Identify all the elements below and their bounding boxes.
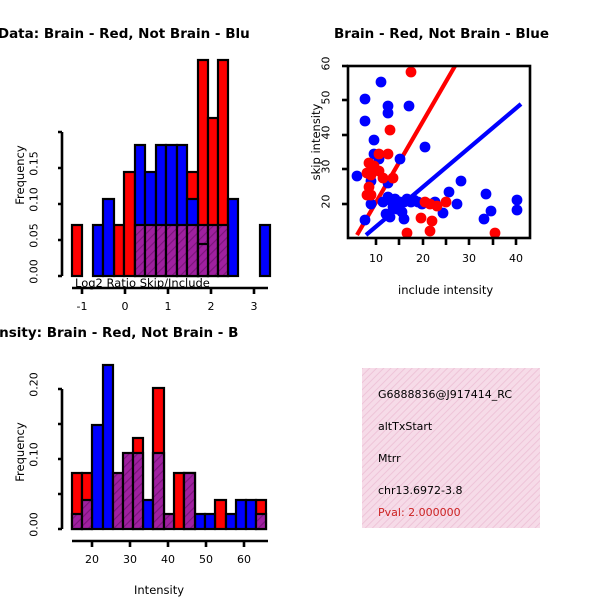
intensity-ytick-2: 0.20 bbox=[28, 365, 41, 405]
scatter-title: Brain - Red, Not Brain - Blue bbox=[334, 26, 549, 42]
ratio-ytick-2: 0.10 bbox=[28, 180, 41, 220]
scatter-xlabel: include intensity bbox=[398, 283, 493, 297]
ratio-xlabel: Log2 Ratio Skip/Include bbox=[75, 276, 210, 290]
gene-info-pval: Pval: 2.000000 bbox=[378, 506, 461, 519]
intensity-histogram-title: ne Itensity: Brain - Red, Not Brain - B bbox=[0, 325, 238, 341]
ratio-histogram-plot bbox=[0, 48, 300, 298]
scatter-content bbox=[352, 66, 523, 238]
gene-info-line-4: chr13.6972-3.8 bbox=[378, 484, 463, 497]
intensity-ytick-1: 0.10 bbox=[28, 435, 41, 475]
ratio-ytick-0: 0.00 bbox=[28, 252, 41, 292]
scatter-panel: Brain - Red, Not Brain - Blue bbox=[300, 0, 600, 310]
intensity-xlabel: Intensity bbox=[134, 583, 184, 597]
gene-info-line-1: G6888836@J917414_RC bbox=[378, 388, 512, 401]
intensity-histogram-plot bbox=[0, 353, 300, 593]
intensity-histogram-panel: ne Itensity: Brain - Red, Not Brain - B bbox=[0, 305, 300, 600]
ratio-ytick-1: 0.05 bbox=[28, 216, 41, 256]
scatter-ylabel: skip intensity bbox=[309, 92, 323, 192]
gene-info-line-3: Mtrr bbox=[378, 452, 401, 465]
intensity-ylabel: Frequency bbox=[13, 402, 27, 502]
scatter-xtick-0: 10 bbox=[366, 252, 386, 265]
ratio-ytick-3: 0.15 bbox=[28, 144, 41, 184]
ratio-overlap-bars bbox=[135, 225, 228, 276]
scatter-xtick-1: 20 bbox=[413, 252, 433, 265]
intensity-bars bbox=[72, 365, 266, 529]
intensity-xtick-0: 20 bbox=[82, 553, 102, 566]
intensity-ytick-0: 0.00 bbox=[28, 505, 41, 545]
intensity-histogram-title-clip: ne Itensity: Brain - Red, Not Brain - B bbox=[0, 325, 300, 347]
intensity-xtick-3: 50 bbox=[196, 553, 216, 566]
gene-info-line-2: altTxStart bbox=[378, 420, 432, 433]
scatter-xtick-3: 40 bbox=[506, 252, 526, 265]
ratio-histogram-panel: RatioData: Brain - Red, Not Brain - Blu bbox=[0, 0, 300, 310]
intensity-xtick-2: 40 bbox=[158, 553, 178, 566]
intensity-xtick-1: 30 bbox=[120, 553, 140, 566]
scatter-plot bbox=[300, 48, 600, 298]
ratio-histogram-title: RatioData: Brain - Red, Not Brain - Blu bbox=[0, 26, 250, 42]
scatter-xtick-2: 30 bbox=[459, 252, 479, 265]
intensity-xtick-4: 60 bbox=[234, 553, 254, 566]
ratio-ylabel: Frequency bbox=[13, 125, 27, 225]
gene-info-text-clip: G6888836@J917414_RC altTxStart Mtrr chr1… bbox=[362, 368, 540, 528]
ratio-histogram-title-clip: RatioData: Brain - Red, Not Brain - Blu bbox=[0, 26, 300, 48]
